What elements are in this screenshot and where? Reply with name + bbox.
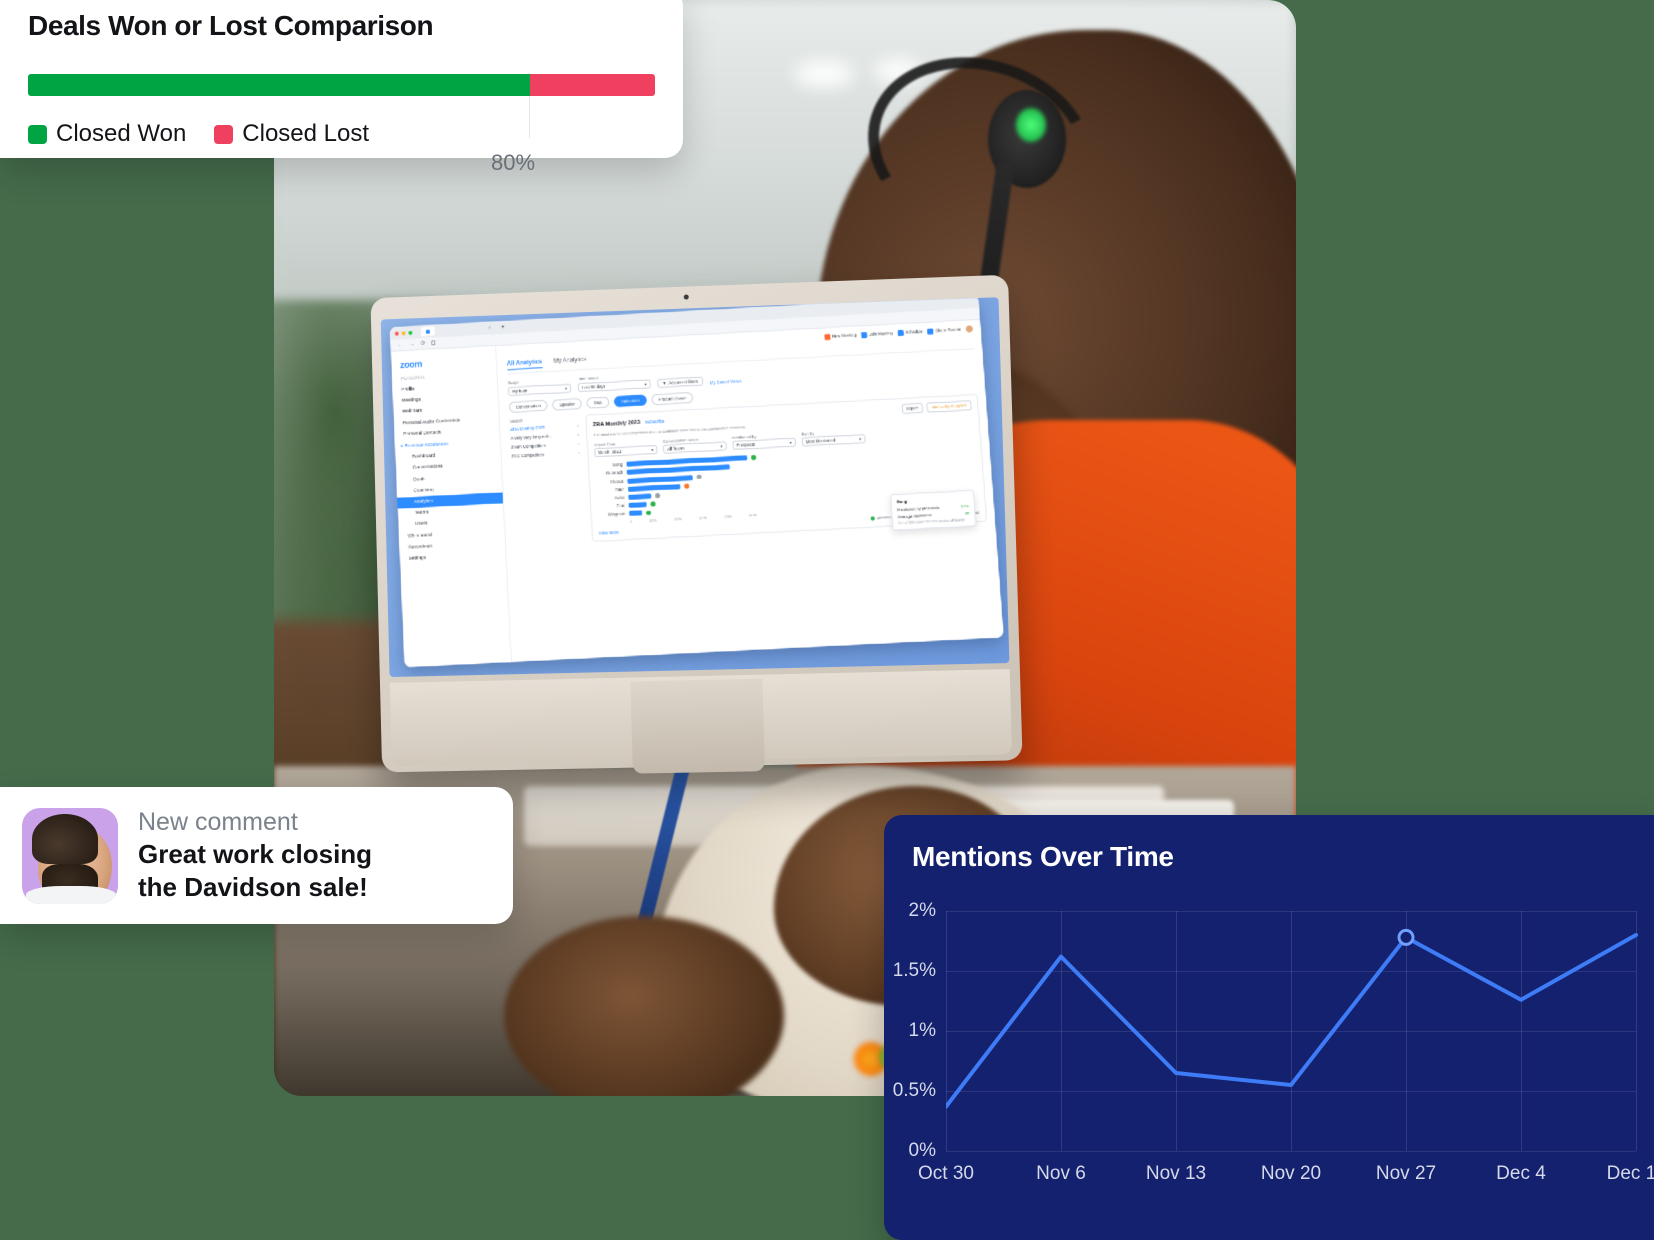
chevron-down-icon: ▾ [644, 381, 646, 386]
x-tick: 0 [630, 519, 632, 523]
search-item-label: ZCC Competitors [511, 451, 544, 458]
bar-label: Clari [597, 503, 625, 509]
bar-label: Otter [596, 487, 624, 493]
legend-swatch-won-icon [28, 125, 47, 144]
new-tab-icon[interactable]: + [501, 324, 505, 330]
y-tick: 0% [909, 1140, 936, 1162]
share-icon [927, 328, 933, 334]
mentions-card-title: Mentions Over Time [912, 841, 1654, 873]
scope-value: My team [512, 387, 528, 393]
chip-speaker[interactable]: Speaker [552, 398, 582, 411]
tooltip-label: Average Sentiment [897, 512, 931, 519]
legend-label-lost: Closed Lost [242, 120, 369, 148]
schedule-button[interactable]: Schedule [897, 328, 923, 335]
comment-message-line-1: Great work closing [138, 839, 372, 870]
ceiling-light [794, 60, 854, 88]
bar-value[interactable] [629, 510, 642, 516]
time-period-filter: Time period Last 90 days▾ [577, 372, 651, 391]
chevron-down-icon: ▾ [859, 436, 861, 441]
mentioned-by-value: Prospects [736, 442, 755, 448]
time-period-select[interactable]: Last 90 days▾ [578, 379, 651, 392]
tooltip-label: Mentioned by prospects [897, 505, 940, 512]
close-icon[interactable] [395, 331, 399, 335]
x-tick: Oct 30 [918, 1163, 974, 1185]
mentions-highlight-point[interactable] [1399, 930, 1413, 944]
bar-value[interactable] [627, 475, 693, 483]
report-time-value: March, 2023 [598, 449, 621, 455]
conversation-scope-value: All Teams [667, 446, 685, 452]
join-meeting-label: Join Meeting [869, 331, 893, 337]
scope-filter: Scope My team▾ [508, 377, 572, 396]
share-screen-button[interactable]: Share Screen [927, 326, 961, 334]
x-tick: 10% [649, 518, 657, 522]
deals-card-title: Deals Won or Lost Comparison [28, 10, 655, 42]
bar-value[interactable] [628, 494, 651, 500]
chevron-down-icon: ▾ [651, 447, 653, 452]
chevron-down-icon: ▾ [401, 443, 403, 448]
tab-my-analytics[interactable]: My Analytics [554, 357, 587, 368]
report-area: Search ZRA Monthly 2023× A very very lon… [510, 393, 987, 545]
tooltip-value: 65 [965, 510, 970, 515]
deals-stacked-bar [28, 74, 655, 96]
conversation-scope-filter: Conversation Scope All Teams▾ [663, 435, 727, 454]
bar-label: Chorus [596, 478, 624, 484]
report-card: ZRA Monthly 2023 Subscribe Export Add to… [585, 393, 987, 541]
avatar[interactable] [966, 325, 973, 332]
forward-icon[interactable]: → [409, 341, 415, 347]
report-time-filter: Report Time March, 2023▾ [594, 439, 658, 458]
bar-tooltip: Gong Mentioned by prospects57% Average S… [890, 490, 976, 530]
subscribe-link[interactable]: Subscribe [645, 419, 665, 425]
sentiment-dot-icon [751, 455, 756, 460]
search-item-zoom-competitors[interactable]: Zoom Competitors× [511, 441, 580, 450]
mentions-plot: 0% 0.5% 1% 1.5% 2% Oct 30 Nov 6 Nov 13 N… [946, 911, 1636, 1201]
browser-window: × + ← → ⟳ zoom PERSONAL Pr [390, 297, 1004, 667]
x-tick: Dec 4 [1496, 1163, 1546, 1185]
back-icon[interactable]: ← [397, 342, 403, 348]
tooltip-value: 57% [961, 503, 969, 508]
new-comment-card: New comment Great work closing the David… [0, 787, 513, 924]
chevron-down-icon: ▾ [720, 444, 722, 449]
video-icon [824, 333, 830, 339]
sort-by-filter: Sort By Most Mentioned▾ [801, 428, 865, 447]
tab-all-analytics[interactable]: All Analytics [507, 359, 543, 370]
view-more-link[interactable]: View More [598, 529, 619, 535]
advanced-filters-button[interactable]: ▼Advanced filters [657, 376, 703, 387]
tooltip-note: Out of 200 conversations across all team… [898, 517, 970, 525]
monitor-screen: × + ← → ⟳ zoom PERSONAL Pr [381, 297, 1010, 677]
x-tick: 40% [724, 514, 732, 518]
search-item-label: ZRA Monthly 2023 [510, 424, 545, 431]
legend-label-won: Closed Won [56, 120, 186, 148]
chevron-down-icon: ▾ [565, 385, 567, 390]
bar-value[interactable] [629, 502, 647, 508]
deals-comparison-card: Deals Won or Lost Comparison 80% Closed … [0, 0, 683, 158]
time-period-value: Last 90 days [582, 383, 606, 389]
share-screen-label: Share Screen [935, 327, 961, 333]
minimize-icon[interactable] [402, 331, 406, 335]
export-button[interactable]: Export [901, 402, 923, 413]
saved-views-link[interactable]: My Saved Views [710, 378, 742, 385]
chevron-down-icon: ▾ [790, 440, 792, 445]
comment-label: New comment [138, 808, 372, 837]
zoom-app: zoom PERSONAL Profile Meetings Webinars … [391, 320, 1004, 668]
search-item-label: Zoom Competitors [511, 442, 546, 449]
chip-product-usage[interactable]: Product Usage [651, 392, 693, 405]
export-label: Export [906, 405, 918, 411]
sentiment-dot-icon [684, 484, 689, 489]
deals-percent-label: 80% [491, 150, 535, 176]
deals-bar-wrapper: 80% [28, 74, 655, 96]
deals-bar-tick [529, 96, 530, 138]
sort-by-select[interactable]: Most Mentioned▾ [801, 434, 865, 446]
bar-value[interactable] [628, 484, 681, 492]
x-tick: 30% [699, 515, 707, 519]
schedule-label: Schedule [905, 329, 923, 335]
chip-deal[interactable]: Deal [587, 396, 610, 408]
close-icon[interactable]: × [578, 450, 581, 455]
bar-label: Gong [595, 462, 623, 468]
headset-led-icon [1016, 108, 1046, 142]
legend-item-closed-lost: Closed Lost [214, 120, 369, 148]
desktop-monitor: × + ← → ⟳ zoom PERSONAL Pr [370, 275, 1022, 773]
join-meeting-button[interactable]: Join Meeting [861, 330, 893, 338]
mentions-over-time-card: Mentions Over Time 0% 0.5% 1% 1.5% 2% Oc… [884, 815, 1654, 1240]
report-title: ZRA Monthly 2023 [593, 419, 641, 428]
closed-won-segment [28, 74, 530, 96]
search-item-zcc-competitors[interactable]: ZCC Competitors× [511, 450, 580, 459]
new-meeting-button[interactable]: New Meeting [824, 332, 856, 340]
new-meeting-label: New Meeting [832, 332, 856, 338]
avatar-hair [32, 814, 98, 864]
mentions-line-series [946, 935, 1636, 1107]
x-tick: Dec 11 [1607, 1163, 1654, 1185]
maximize-icon[interactable] [408, 330, 412, 334]
sidebar: zoom PERSONAL Profile Meetings Webinars … [391, 346, 512, 667]
y-tick: 1% [909, 1020, 936, 1042]
competitor-bar-chart: Gong Outreach Chorus Otter Aviso Clari W… [595, 444, 979, 525]
sentiment-dot-icon [655, 493, 660, 498]
deals-legend: Closed Won Closed Lost [28, 120, 655, 148]
composite-stage: × + ← → ⟳ zoom PERSONAL Pr [0, 0, 1654, 1240]
x-tick: Nov 20 [1261, 1163, 1321, 1185]
reload-icon[interactable]: ⟳ [421, 340, 426, 347]
avatar [22, 808, 118, 904]
sentiment-dot-icon [650, 502, 655, 507]
x-tick: Nov 27 [1376, 1163, 1436, 1185]
avatar-shirt [26, 886, 116, 904]
conversation-scope-select[interactable]: All Teams▾ [663, 442, 727, 454]
closed-lost-segment [530, 74, 655, 96]
webcam-icon [683, 294, 688, 299]
report-actions: Export Add to My Analytics [901, 400, 972, 414]
chip-indicators[interactable]: Indicators [614, 394, 647, 407]
search-item-label: A very very long indi... [510, 433, 552, 440]
report-time-select[interactable]: March, 2023▾ [594, 445, 658, 457]
sentiment-dot-icon [697, 475, 702, 480]
legend-swatch-lost-icon [214, 125, 233, 144]
comment-text: New comment Great work closing the David… [138, 808, 372, 903]
x-tick: Nov 6 [1036, 1163, 1086, 1185]
search-item-zra-monthly[interactable]: ZRA Monthly 2023× [510, 423, 579, 432]
monitor-stand [630, 679, 765, 774]
browser-tab[interactable] [421, 327, 435, 337]
close-icon[interactable]: × [576, 423, 579, 428]
search-label: Search [510, 415, 579, 424]
add-to-my-analytics-button[interactable]: Add to My Analytics [927, 400, 972, 413]
bar-label: Wingman [597, 511, 625, 517]
filter-icon: ▼ [662, 380, 666, 385]
favicon-icon [426, 329, 430, 333]
lock-icon [431, 340, 435, 345]
tab-close-icon[interactable]: × [488, 325, 491, 331]
mentioned-by-filter: Mentioned By Prospects▾ [732, 431, 796, 450]
search-item-long-indicator[interactable]: A very very long indi...× [510, 432, 579, 441]
y-tick: 2% [909, 900, 936, 922]
y-tick: 1.5% [893, 960, 936, 982]
chip-conversation[interactable]: Conversation [509, 399, 548, 412]
sort-by-value: Most Mentioned [806, 438, 836, 445]
y-tick: 0.5% [893, 1080, 936, 1102]
plus-icon [861, 331, 867, 337]
close-icon[interactable]: × [577, 441, 580, 446]
sidebar-item-label: Revenue Accelerator [405, 442, 449, 449]
comment-message-line-2: the Davidson sale! [138, 872, 372, 903]
bar-label: Outreach [595, 470, 623, 476]
mentions-line-svg [946, 911, 1646, 1156]
x-tick: 50% [749, 513, 757, 517]
sentiment-dot-icon [646, 510, 651, 515]
advanced-filters-label: Advanced filters [668, 378, 698, 385]
mentioned-by-select[interactable]: Prospects▾ [732, 438, 796, 450]
x-tick: Nov 13 [1146, 1163, 1206, 1185]
add-to-label: Add to My Analytics [932, 403, 967, 410]
bar-label: Aviso [597, 495, 625, 501]
close-icon[interactable]: × [577, 432, 580, 437]
x-tick: 20% [674, 517, 682, 521]
scope-select[interactable]: My team▾ [508, 383, 571, 395]
legend-item-closed-won: Closed Won [28, 120, 186, 148]
main-content: New Meeting Join Meeting Schedule Share … [496, 320, 1004, 662]
legend-dot-icon [870, 516, 874, 520]
search-panel: Search ZRA Monthly 2023× A very very lon… [510, 415, 586, 546]
calendar-icon [897, 329, 903, 335]
